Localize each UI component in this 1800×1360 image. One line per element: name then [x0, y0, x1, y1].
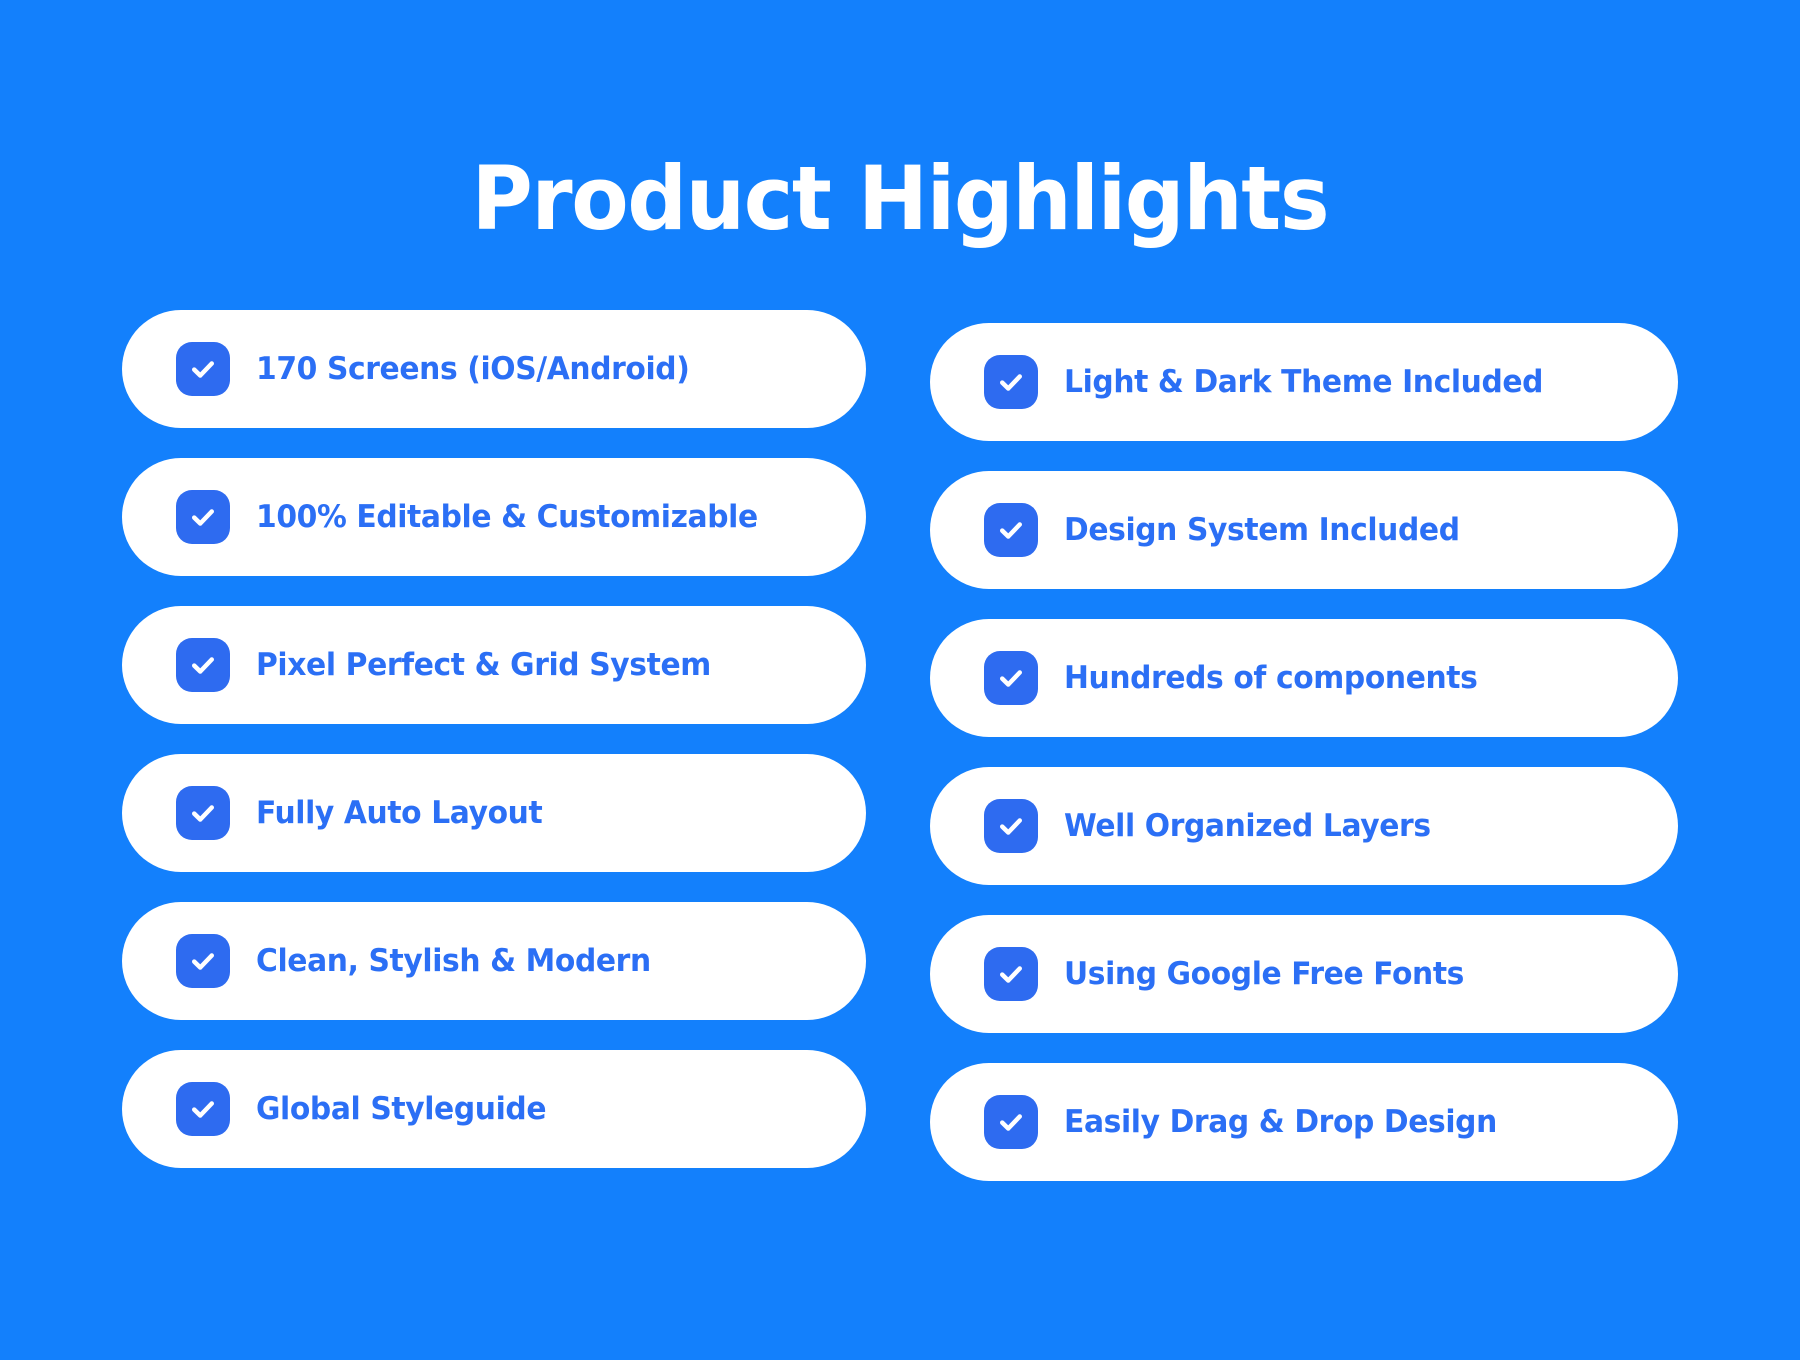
highlight-label: 100% Editable & Customizable — [256, 499, 758, 535]
highlights-column-left: 170 Screens (iOS/Android) 100% Editable … — [122, 0, 866, 1168]
highlight-label: Global Styleguide — [256, 1091, 546, 1127]
check-icon[interactable] — [984, 355, 1038, 409]
highlight-card[interactable]: Pixel Perfect & Grid System — [122, 606, 866, 724]
highlight-label: Easily Drag & Drop Design — [1064, 1104, 1497, 1140]
highlight-label: Hundreds of components — [1064, 660, 1477, 696]
highlight-card[interactable]: Global Styleguide — [122, 1050, 866, 1168]
check-icon[interactable] — [176, 1082, 230, 1136]
highlight-card[interactable]: 100% Editable & Customizable — [122, 458, 866, 576]
check-icon[interactable] — [984, 799, 1038, 853]
product-highlights-page: Product Highlights 170 Screens (iOS/Andr… — [0, 0, 1800, 1360]
highlight-label: Using Google Free Fonts — [1064, 956, 1464, 992]
check-icon[interactable] — [984, 651, 1038, 705]
highlight-card[interactable]: Light & Dark Theme Included — [930, 323, 1678, 441]
highlight-card[interactable]: Clean, Stylish & Modern — [122, 902, 866, 1020]
highlight-label: Light & Dark Theme Included — [1064, 364, 1543, 400]
highlight-card[interactable]: Fully Auto Layout — [122, 754, 866, 872]
check-icon[interactable] — [176, 786, 230, 840]
highlight-label: Well Organized Layers — [1064, 808, 1431, 844]
check-icon[interactable] — [176, 934, 230, 988]
highlight-card[interactable]: Hundreds of components — [930, 619, 1678, 737]
check-icon[interactable] — [984, 947, 1038, 1001]
highlight-list-right: Light & Dark Theme Included Design Syste… — [930, 0, 1678, 1181]
highlight-card[interactable]: 170 Screens (iOS/Android) — [122, 310, 866, 428]
check-icon[interactable] — [176, 638, 230, 692]
check-icon[interactable] — [176, 342, 230, 396]
highlight-label: Pixel Perfect & Grid System — [256, 647, 711, 683]
highlight-card[interactable]: Well Organized Layers — [930, 767, 1678, 885]
check-icon[interactable] — [176, 490, 230, 544]
highlight-label: Fully Auto Layout — [256, 795, 542, 831]
highlight-label: 170 Screens (iOS/Android) — [256, 351, 689, 387]
highlight-label: Clean, Stylish & Modern — [256, 943, 651, 979]
check-icon[interactable] — [984, 503, 1038, 557]
highlights-columns: 170 Screens (iOS/Android) 100% Editable … — [0, 0, 1800, 1360]
highlight-card[interactable]: Design System Included — [930, 471, 1678, 589]
highlight-label: Design System Included — [1064, 512, 1460, 548]
highlights-column-right: Light & Dark Theme Included Design Syste… — [930, 0, 1678, 1181]
highlight-card[interactable]: Easily Drag & Drop Design — [930, 1063, 1678, 1181]
check-icon[interactable] — [984, 1095, 1038, 1149]
highlight-card[interactable]: Using Google Free Fonts — [930, 915, 1678, 1033]
highlight-list-left: 170 Screens (iOS/Android) 100% Editable … — [122, 0, 866, 1168]
